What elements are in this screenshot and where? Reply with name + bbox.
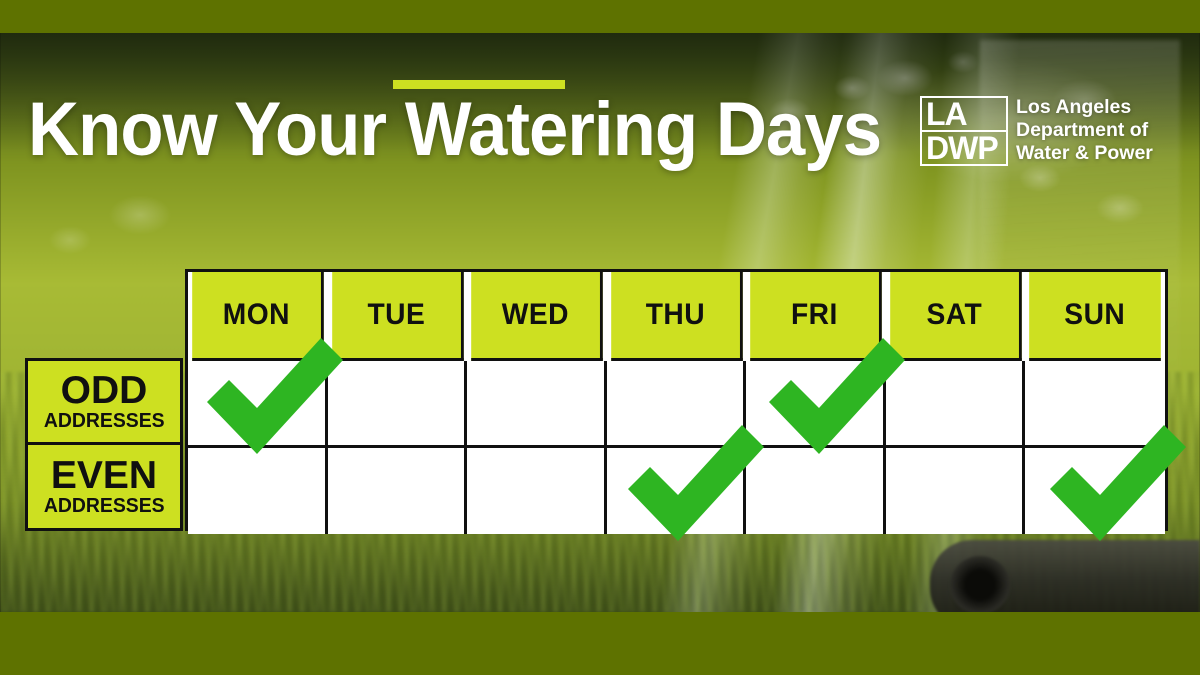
ladwp-logo-text: Los Angeles Department of Water & Power <box>1016 96 1153 165</box>
row-label-even-sub: ADDRESSES <box>44 495 165 517</box>
logo-text-line-3: Water & Power <box>1016 142 1153 165</box>
cell-even-wed[interactable] <box>467 448 607 534</box>
column-header-wed: WED <box>471 272 602 361</box>
cell-even-mon[interactable] <box>188 448 328 534</box>
bottom-band <box>0 612 1200 675</box>
ladwp-logo: LA DWP Los Angeles Department of Water &… <box>920 96 1153 166</box>
checkmark-odd-mon <box>199 332 349 458</box>
logo-text-line-1: Los Angeles <box>1016 96 1153 119</box>
column-header-tue: TUE <box>332 272 463 361</box>
cell-even-sat[interactable] <box>886 448 1026 534</box>
background-hose-opening <box>950 556 1010 614</box>
top-band <box>0 0 1200 33</box>
logo-mark-dwp: DWP <box>922 132 1006 164</box>
row-label-odd: ODD ADDRESSES <box>25 358 183 445</box>
column-header-thu: THU <box>611 272 742 361</box>
row-label-even-main: EVEN <box>51 457 157 495</box>
checkmark-even-thu <box>620 419 770 545</box>
row-label-even: EVEN ADDRESSES <box>25 445 183 531</box>
title-underline <box>393 80 565 89</box>
page-title: Know Your Watering Days <box>28 92 881 168</box>
row-label-odd-main: ODD <box>61 372 148 410</box>
row-label-column: ODD ADDRESSES EVEN ADDRESSES <box>25 358 183 531</box>
checkmark-even-sun <box>1042 419 1192 545</box>
cell-odd-wed[interactable] <box>467 361 607 448</box>
watering-schedule-table: MONTUEWEDTHUFRISATSUN <box>185 269 1168 531</box>
column-header-sun: SUN <box>1030 272 1161 361</box>
poster: Know Your Watering Days LA DWP Los Angel… <box>0 0 1200 675</box>
title-row: Know Your Watering Days <box>28 92 945 168</box>
row-label-odd-sub: ADDRESSES <box>44 410 165 432</box>
logo-mark-la: LA <box>922 98 1006 132</box>
cell-even-tue[interactable] <box>328 448 468 534</box>
logo-text-line-2: Department of <box>1016 119 1153 142</box>
ladwp-logo-mark: LA DWP <box>920 96 1008 166</box>
checkmark-odd-fri <box>761 332 911 458</box>
